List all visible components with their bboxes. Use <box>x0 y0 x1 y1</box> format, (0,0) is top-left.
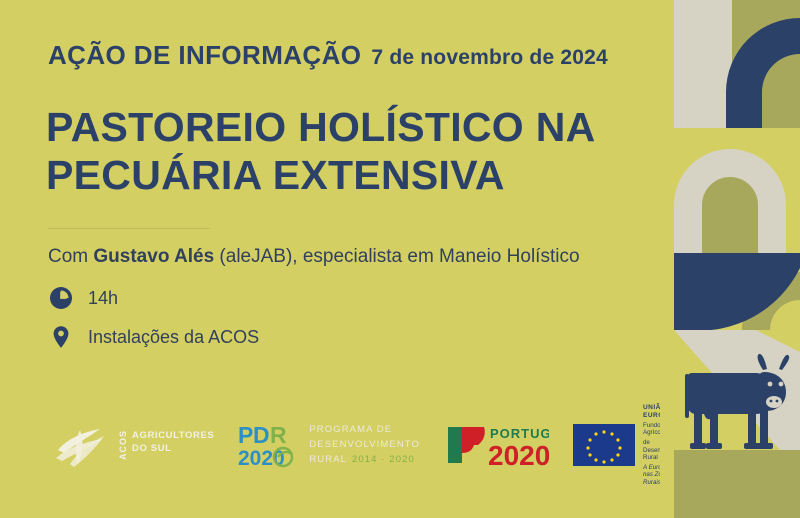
event-details: 14h Instalações da ACOS <box>48 285 259 350</box>
svg-text:2020: 2020 <box>488 440 549 471</box>
acos-vertical-text: ACOS <box>119 430 128 460</box>
detail-location-text: Instalações da ACOS <box>88 327 259 348</box>
divider <box>48 228 210 229</box>
acos-wordmark: ACOS AGRICULTORES DO SUL <box>119 430 214 460</box>
pdr-line-3: RURAL 2014 · 2020 <box>309 454 420 466</box>
event-date: 7 de novembro de 2024 <box>371 46 607 70</box>
eyebrow-label: AÇÃO DE INFORMAÇÃO <box>48 40 361 71</box>
pdr-years: 2014 · 2020 <box>352 454 415 466</box>
clock-icon <box>48 285 74 311</box>
svg-text:R: R <box>270 422 287 448</box>
logo-strip: ACOS AGRICULTORES DO SUL P D R 2020 <box>50 404 690 486</box>
poster-content: AÇÃO DE INFORMAÇÃO 7 de novembro de 2024… <box>0 0 660 518</box>
speaker-name: Gustavo Alés <box>93 246 214 267</box>
location-pin-icon <box>48 324 74 350</box>
decorative-panel <box>660 0 800 518</box>
svg-text:D: D <box>253 422 270 448</box>
acos-mark-icon <box>50 420 112 470</box>
speaker-line: Com Gustavo Alés (aleJAB), especialista … <box>48 246 580 268</box>
svg-text:PORTUGAL: PORTUGAL <box>490 426 549 441</box>
title-line-2: PECUÁRIA EXTENSIVA <box>46 151 646 199</box>
logo-portugal2020: PORTUGAL 2020 <box>444 419 549 471</box>
poster-canvas: AÇÃO DE INFORMAÇÃO 7 de novembro de 2024… <box>0 0 800 518</box>
acos-tagline: AGRICULTORES DO SUL <box>132 430 214 453</box>
speaker-prefix: Com <box>48 246 93 267</box>
pdr-mark-icon: P D R 2020 <box>238 421 300 469</box>
eu-flag-icon <box>573 424 635 466</box>
logo-acos: ACOS AGRICULTORES DO SUL <box>50 420 214 470</box>
portugal2020-mark-icon: PORTUGAL 2020 <box>444 419 549 471</box>
decorative-graphic <box>660 0 800 518</box>
detail-row-time: 14h <box>48 285 259 311</box>
acos-tagline-line-2: DO SUL <box>132 444 214 454</box>
logo-pdr2020: P D R 2020 PROGRAMA DE DESENVOLVIMENTO R… <box>238 421 420 469</box>
pdr-line-2: DESENVOLVIMENTO <box>309 439 420 451</box>
title-line-1: PASTOREIO HOLÍSTICO NA <box>46 103 646 151</box>
pdr-rural-label: RURAL <box>309 454 347 466</box>
pdr-line-1: PROGRAMA DE <box>309 424 420 436</box>
eyebrow-row: AÇÃO DE INFORMAÇÃO 7 de novembro de 2024 <box>48 40 608 71</box>
acos-tagline-line-1: AGRICULTORES <box>132 431 214 441</box>
speaker-suffix: (aleJAB), especialista em Maneio Holísti… <box>214 246 579 267</box>
detail-time-text: 14h <box>88 288 118 309</box>
page-title: PASTOREIO HOLÍSTICO NA PECUÁRIA EXTENSIV… <box>46 103 646 200</box>
pdr-description: PROGRAMA DE DESENVOLVIMENTO RURAL 2014 ·… <box>309 424 420 466</box>
svg-text:P: P <box>238 422 253 448</box>
detail-row-location: Instalações da ACOS <box>48 324 259 350</box>
